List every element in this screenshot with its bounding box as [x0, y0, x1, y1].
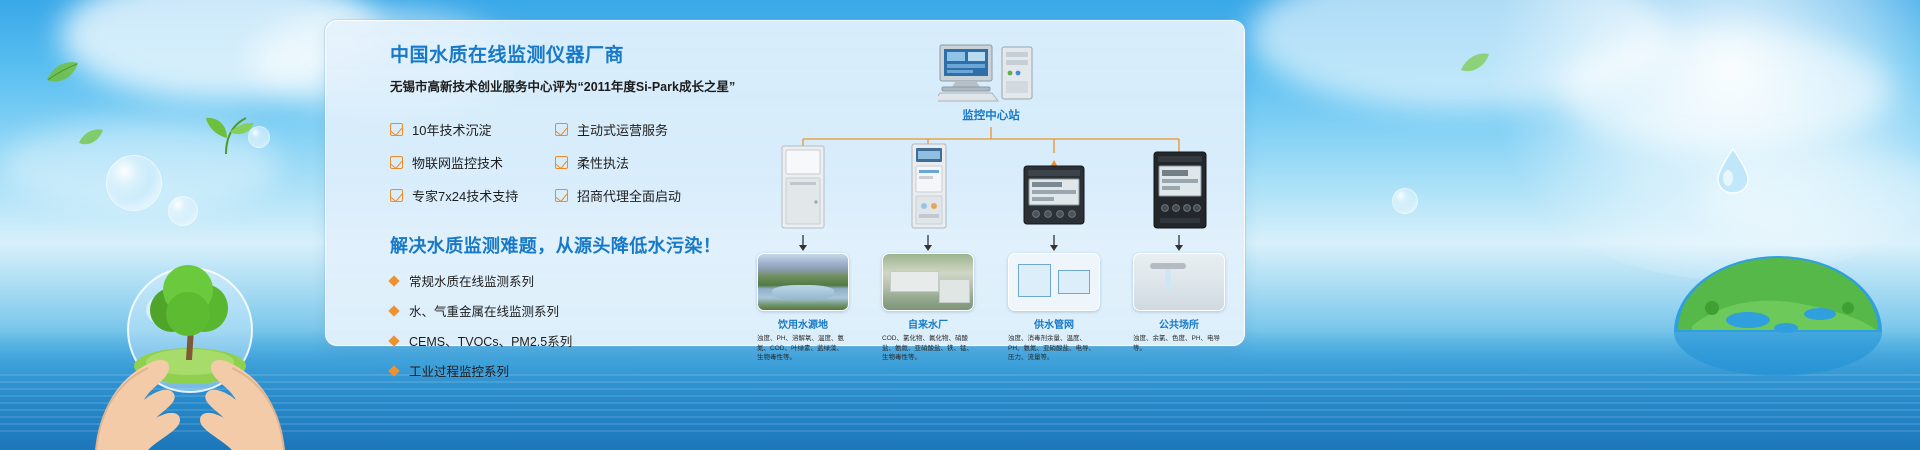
list-item-label: 常规水质在线监测系列: [409, 271, 534, 290]
page-title: 中国水质在线监测仪器厂商: [390, 43, 740, 69]
scenario-title: 公共场所: [1133, 316, 1225, 331]
cloud-decoration: [1560, 30, 1890, 150]
list-item-label: 水、气重金属在线监测系列: [409, 301, 559, 320]
system-topology-diagram: 监控中心站: [756, 35, 1226, 345]
list-item[interactable]: 工业过程监控系列: [390, 361, 740, 380]
device-row: [756, 145, 1226, 235]
checklist-item-label: 主动式运营服务: [577, 120, 668, 139]
cloud-decoration: [1250, 0, 1670, 110]
diamond-bullet-icon: [388, 365, 399, 376]
scenario-description: 浊度、余氯、色度、PH、电导等。: [1133, 334, 1225, 353]
list-item-label: 工业过程监控系列: [409, 361, 509, 380]
checklist-item[interactable]: 专家7x24技术支持: [390, 186, 555, 205]
device-panel-controller-wide[interactable]: [1022, 160, 1086, 235]
checkbox-checked-icon: [390, 189, 403, 202]
checkbox-checked-icon: [390, 156, 403, 169]
checkbox-checked-icon: [555, 123, 568, 136]
scenario-card[interactable]: 自来水厂 COD、氯化物、氟化物、硝酸盐、氨氮、亚硝酸盐、铁、锰、生物毒性等。: [882, 253, 974, 363]
diamond-bullet-icon: [388, 305, 399, 316]
bubble-decoration: [1392, 188, 1418, 214]
product-series-list: 常规水质在线监测系列 水、气重金属在线监测系列 CEMS、TVOCs、PM2.5…: [390, 271, 740, 380]
checklist-item[interactable]: 柔性执法: [555, 153, 730, 172]
leaf-sprout-icon: [196, 112, 256, 156]
waterworks-photo: [882, 253, 974, 311]
scenario-description: 浊度、消毒剂余量、温度、PH、氨氮、亚硝酸盐、电导、压力、流量等。: [1008, 334, 1100, 363]
content-panel: 中国水质在线监测仪器厂商 无锡市高新技术创业服务中心评为“2011年度Si-Pa…: [325, 20, 1245, 346]
green-earth-illustration: [1652, 204, 1892, 384]
bubble-decoration: [106, 155, 162, 211]
hands-holding-tree-illustration: [60, 210, 320, 450]
water-droplet-icon: [1716, 148, 1750, 194]
checklist-item[interactable]: 主动式运营服务: [555, 120, 730, 139]
river-photo: [757, 253, 849, 311]
scenario-description: COD、氯化物、氟化物、硝酸盐、氨氮、亚硝酸盐、铁、锰、生物毒性等。: [882, 334, 974, 363]
list-item[interactable]: CEMS、TVOCs、PM2.5系列: [390, 331, 740, 350]
checkbox-checked-icon: [555, 189, 568, 202]
checkbox-checked-icon: [390, 123, 403, 136]
feature-checklist: 10年技术沉淀 主动式运营服务 物联网监控技术 柔性执法 专家7x24技术支持 …: [390, 120, 740, 205]
scenario-card[interactable]: 公共场所 浊度、余氯、色度、PH、电导等。: [1133, 253, 1225, 353]
diamond-bullet-icon: [388, 275, 399, 286]
checklist-item[interactable]: 招商代理全面启动: [555, 186, 730, 205]
pipeline-diagram-photo: [1008, 253, 1100, 311]
scenario-title: 自来水厂: [882, 316, 974, 331]
checklist-item[interactable]: 10年技术沉淀: [390, 120, 555, 139]
leaf-icon: [1460, 52, 1490, 76]
scenario-title: 饮用水源地: [757, 316, 849, 331]
diamond-bullet-icon: [388, 335, 399, 346]
list-item[interactable]: 常规水质在线监测系列: [390, 271, 740, 290]
page-subtitle: 无锡市高新技术创业服务中心评为“2011年度Si-Park成长之星”: [390, 78, 740, 96]
section-heading: 解决水质监测难题，从源头降低水污染！: [390, 232, 740, 258]
scenario-card[interactable]: 供水管网 浊度、消毒剂余量、温度、PH、氨氮、亚硝酸盐、电导、压力、流量等。: [1008, 253, 1100, 363]
scenario-description: 浊度、PH、溶解氧、温度、氨氮、COD、叶绿素、蓝绿藻、生物毒性等。: [757, 334, 849, 363]
tap-photo: [1133, 253, 1225, 311]
checklist-item-label: 招商代理全面启动: [577, 186, 681, 205]
leaf-icon: [78, 128, 104, 148]
checklist-item[interactable]: 物联网监控技术: [390, 153, 555, 172]
device-cabinet-analyzer[interactable]: [778, 144, 828, 235]
checklist-item-label: 10年技术沉淀: [412, 120, 491, 139]
checklist-item-label: 柔性执法: [577, 153, 629, 172]
scenario-card[interactable]: 饮用水源地 浊度、PH、溶解氧、温度、氨氮、COD、叶绿素、蓝绿藻、生物毒性等。: [757, 253, 849, 363]
checklist-item-label: 专家7x24技术支持: [412, 186, 518, 205]
list-item[interactable]: 水、气重金属在线监测系列: [390, 301, 740, 320]
bubble-decoration: [248, 126, 270, 148]
device-panel-controller-tall[interactable]: [1152, 150, 1208, 235]
list-item-label: CEMS、TVOCs、PM2.5系列: [409, 331, 572, 350]
scenario-title: 供水管网: [1008, 316, 1100, 331]
checkbox-checked-icon: [555, 156, 568, 169]
device-rack-analyzer[interactable]: [906, 140, 952, 235]
leaf-icon: [45, 60, 79, 86]
checklist-item-label: 物联网监控技术: [412, 153, 503, 172]
panel-text-column: 中国水质在线监测仪器厂商 无锡市高新技术创业服务中心评为“2011年度Si-Pa…: [390, 43, 740, 391]
